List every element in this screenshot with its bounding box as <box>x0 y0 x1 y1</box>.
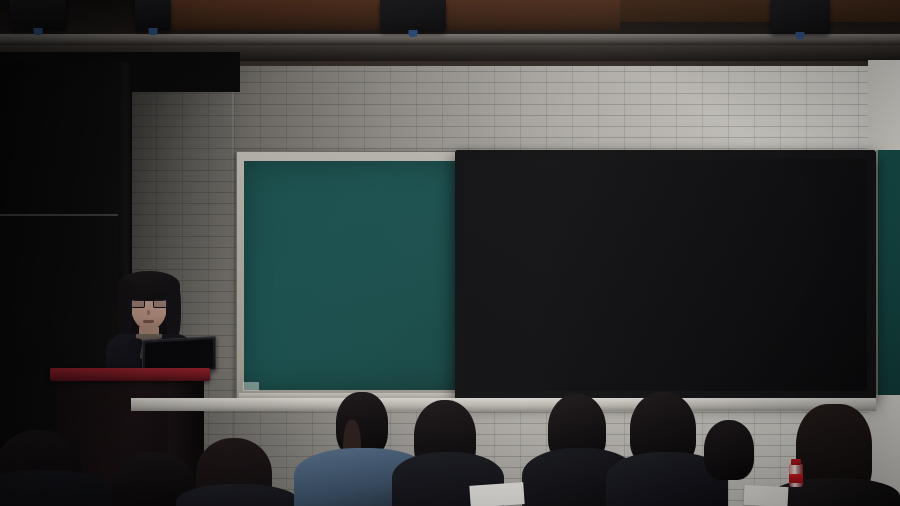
toolbar-separator <box>733 375 734 384</box>
eraser-image-1 <box>492 225 539 287</box>
green-chalkboard <box>236 151 470 405</box>
nose <box>147 310 150 315</box>
zoom-icon[interactable] <box>651 373 666 386</box>
circle-icon[interactable] <box>529 378 536 385</box>
slide-watermark-badge: 首发于: 小学生学习之家 <box>809 168 860 178</box>
hair-side <box>166 280 181 342</box>
panel-seam <box>0 214 131 216</box>
body-text-right: 整节课注意力都不在线。橡皮告诉我，你到底做错了什么。 <box>707 293 857 316</box>
podium-top-surface <box>50 368 210 381</box>
body-text-left: 偶尔无聊、走神，开开小差，这块橡皮还算干净，就是磨损比较严重，还被扎了个小眼儿，… <box>486 293 686 328</box>
eraser-image-2 <box>713 225 757 282</box>
back-icon[interactable] <box>541 378 548 385</box>
ceiling-speaker <box>135 0 171 30</box>
paper-sheet <box>744 485 789 506</box>
square-icon[interactable] <box>517 378 524 385</box>
pen-icon[interactable] <box>621 373 636 386</box>
chalkboard-logo <box>243 382 259 391</box>
export-icon[interactable] <box>701 373 716 386</box>
bottle-cap <box>791 459 801 465</box>
ceiling-speaker <box>770 0 830 34</box>
hair-side <box>117 280 132 342</box>
slide-title: 从橡皮就可以看出孩子学习是否认真 <box>490 169 820 198</box>
wall-ledge <box>131 398 876 411</box>
green-chalkboard-right <box>876 150 900 395</box>
caption-left: 上课不开小差，认真听讲，好好写字。 <box>492 209 638 221</box>
item-number-3: 3 <box>564 355 572 371</box>
cursor-icon[interactable] <box>606 373 621 386</box>
whiteboard-toolbar[interactable] <box>603 371 754 388</box>
dot-icon[interactable] <box>482 378 489 385</box>
item-number-1: 1 <box>564 247 572 263</box>
chalkboard-surface <box>244 161 462 390</box>
slide-mini-toolbar[interactable] <box>470 378 548 385</box>
classroom-photo: 从橡皮就可以看出孩子学习是否认真 据说准确率高达百分之九十九！还有热心的网友找出… <box>0 0 900 506</box>
bottle-label <box>789 474 803 483</box>
ceiling-rail <box>0 34 900 45</box>
caption-right: 经常走神，容易分心。 <box>717 209 803 221</box>
presentation-slide: 从橡皮就可以看出孩子学习是否认真 据说准确率高达百分之九十九！还有热心的网友找出… <box>464 159 867 391</box>
chevron-down-icon[interactable] <box>716 373 731 386</box>
keyboard-icon[interactable] <box>736 373 751 386</box>
toolbar-separator <box>683 375 684 384</box>
dot-icon[interactable] <box>470 378 477 385</box>
page-icon[interactable] <box>686 373 701 386</box>
slide-subtitle: 据说准确率高达百分之九十九！还有热心的网友找出了"罪证图"： <box>544 195 844 205</box>
pen-icon[interactable] <box>493 377 501 385</box>
glasses <box>130 299 168 308</box>
item-number-2: 2 <box>786 243 794 259</box>
ceiling-projector <box>380 0 446 32</box>
item-number-4: 4 <box>786 351 794 367</box>
audience-head <box>704 420 754 480</box>
palette-icon[interactable] <box>505 378 512 385</box>
shape-icon[interactable] <box>666 373 681 386</box>
eraser-icon[interactable] <box>636 373 651 386</box>
paper-sheet <box>469 482 524 506</box>
water-bottle <box>789 459 803 487</box>
ceiling-wood-panel <box>620 0 900 22</box>
display-screen[interactable]: 从橡皮就可以看出孩子学习是否认真 据说准确率高达百分之九十九！还有热心的网友找出… <box>464 159 867 391</box>
ceiling-speaker <box>10 0 66 30</box>
mouth <box>143 320 154 323</box>
interactive-display[interactable]: 从橡皮就可以看出孩子学习是否认真 据说准确率高达百分之九十九！还有热心的网友找出… <box>455 150 876 400</box>
